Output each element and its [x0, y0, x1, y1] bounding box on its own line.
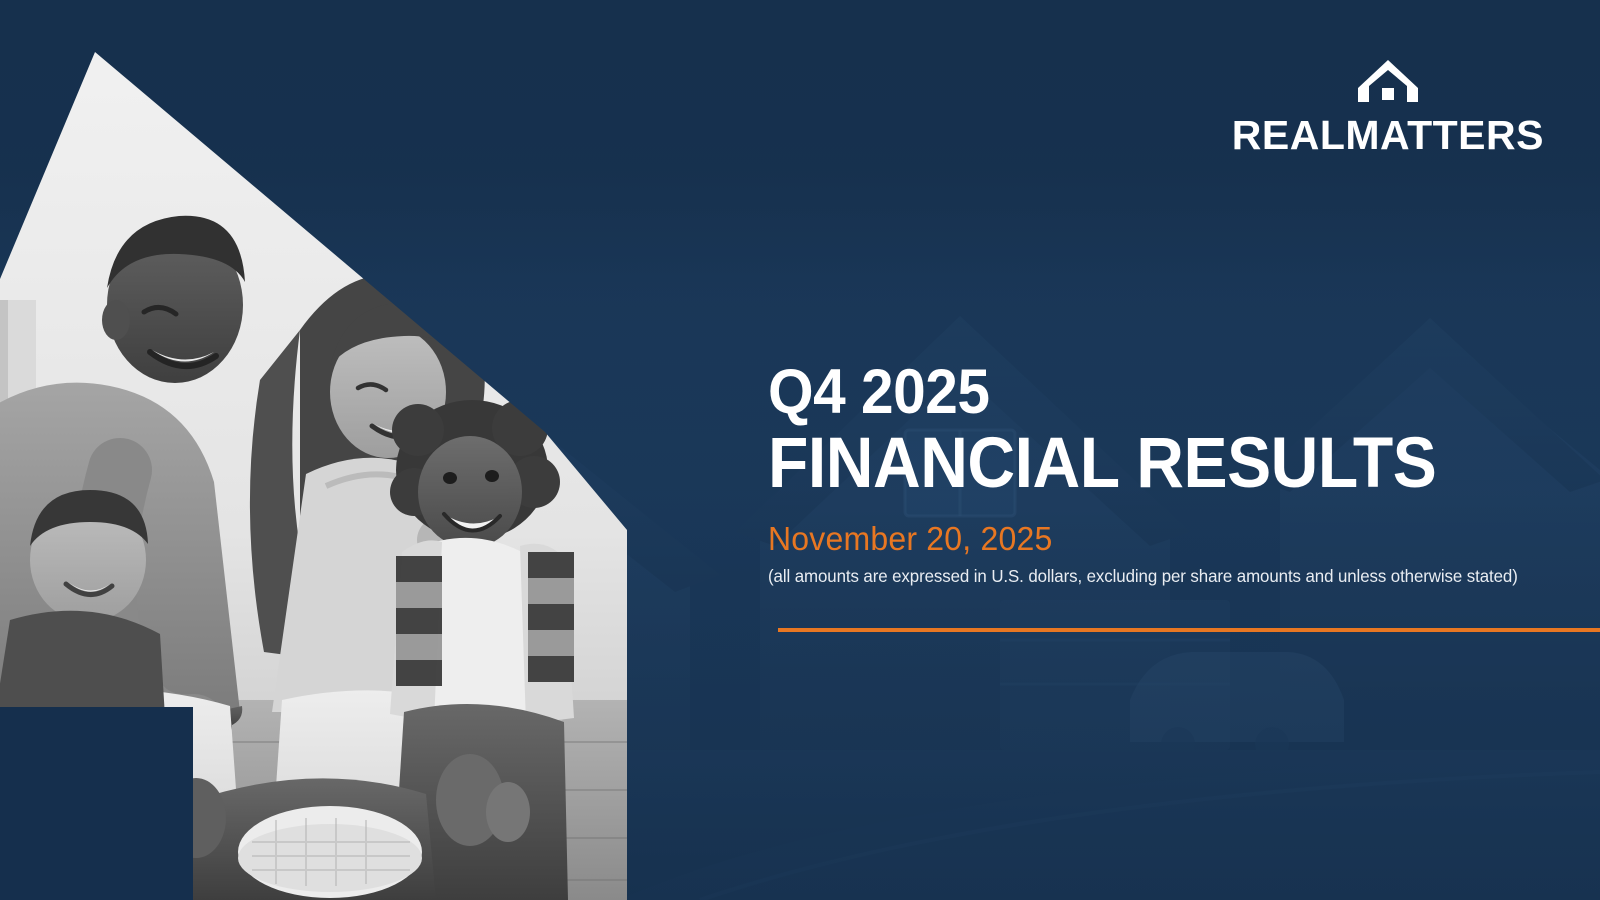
- bottom-left-accent-block: [0, 707, 193, 900]
- headline-block: Q4 2025 FINANCIAL RESULTS November 20, 2…: [768, 362, 1558, 587]
- slide-title-line-1: Q4 2025: [768, 362, 1503, 422]
- currency-disclaimer: (all amounts are expressed in U.S. dolla…: [768, 566, 1530, 587]
- realmatters-logo: REALMATTERS: [1232, 58, 1544, 156]
- slide-title-line-2: FINANCIAL RESULTS: [768, 430, 1503, 498]
- presentation-slide: REALMATTERS Q4 2025 FINANCIAL RESULTS No…: [0, 0, 1600, 900]
- accent-divider: [778, 628, 1600, 632]
- house-icon: [1356, 58, 1420, 111]
- logo-wordmark: REALMATTERS: [1232, 115, 1544, 156]
- presentation-date: November 20, 2025: [768, 521, 1534, 557]
